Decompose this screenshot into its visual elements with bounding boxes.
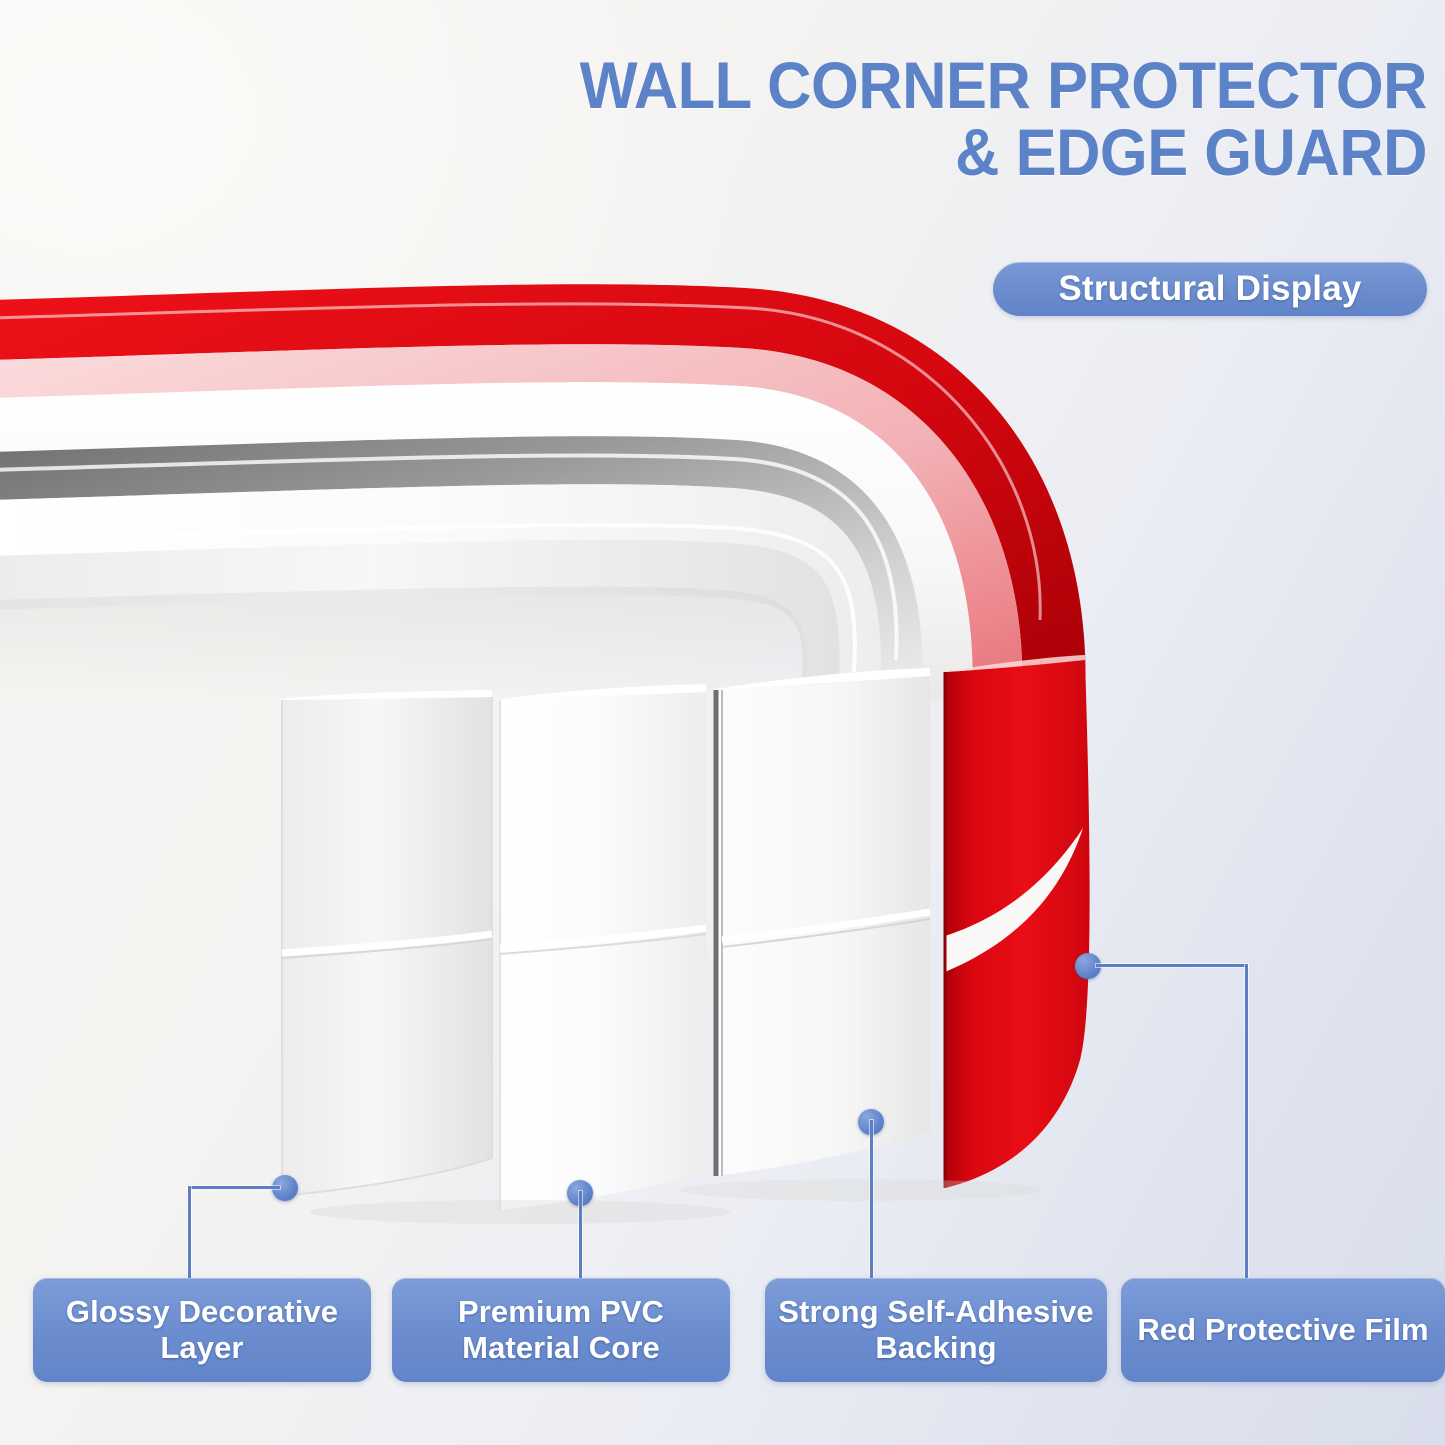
callout-label-film-text: Red Protective Film xyxy=(1137,1312,1428,1348)
callout-label-core[interactable]: Premium PVC Material Core xyxy=(392,1278,730,1382)
status-badge-label: Structural Display xyxy=(1058,269,1361,309)
callout-lead-adhesive-vertical xyxy=(870,1120,873,1280)
infographic-canvas: WALL CORNER PROTECTOR & EDGE GUARD Struc… xyxy=(0,0,1445,1445)
callout-lead-film-horizontal xyxy=(1096,964,1248,967)
callout-label-core-text: Premium PVC Material Core xyxy=(458,1294,664,1366)
panel-self-adhesive-backing xyxy=(712,668,930,1176)
status-badge: Structural Display xyxy=(993,262,1427,316)
callout-lead-core-vertical xyxy=(579,1191,582,1280)
callout-lead-film-vertical xyxy=(1245,964,1248,1280)
product-illustration xyxy=(0,0,1445,1445)
callout-lead-glossy-vertical xyxy=(188,1186,191,1280)
panel-glossy-decorative-layer xyxy=(276,690,492,1196)
callout-lead-glossy-horizontal xyxy=(188,1186,280,1189)
callout-label-film[interactable]: Red Protective Film xyxy=(1121,1278,1445,1382)
callout-label-glossy-text: Glossy Decorative Layer xyxy=(66,1294,338,1366)
panel-premium-pvc-core xyxy=(496,684,706,1210)
callout-label-glossy[interactable]: Glossy Decorative Layer xyxy=(33,1278,371,1382)
panel-red-protective-film xyxy=(941,655,1090,1188)
callout-label-adhesive[interactable]: Strong Self-Adhesive Backing xyxy=(765,1278,1107,1382)
callout-label-adhesive-text: Strong Self-Adhesive Backing xyxy=(778,1294,1094,1366)
